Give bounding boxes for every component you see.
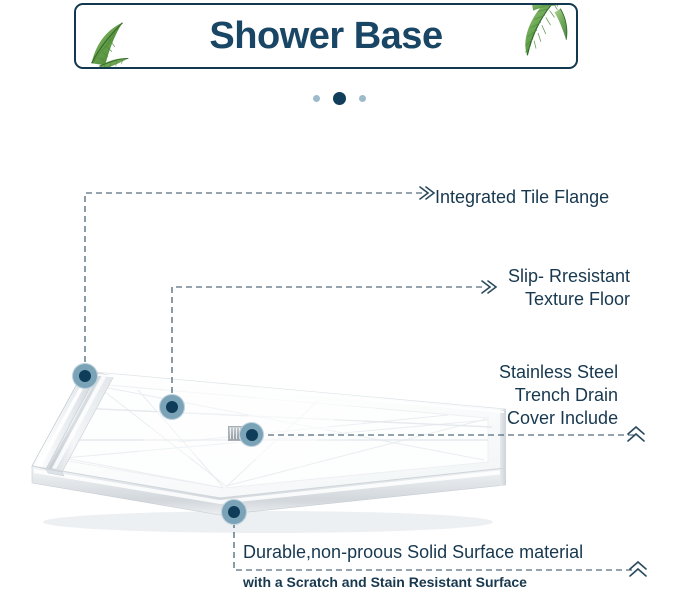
callout-marker-tile-flange[interactable] (72, 363, 98, 389)
callout-label-trench-drain-line-1: Stainless Steel (499, 361, 618, 384)
callout-label-trench-drain: Stainless Steel Trench Drain Cover Inclu… (499, 361, 618, 430)
chevron-arrow-4b (630, 569, 646, 576)
chevron-arrow-1b (426, 187, 434, 199)
callout-label-tile-flange: Integrated Tile Flange (435, 186, 609, 209)
callout-label-texture-floor: Slip- Rresistant Texture Floor (508, 265, 630, 311)
page-title: Shower Base (76, 17, 576, 55)
chevron-arrow-3a (628, 427, 644, 434)
carousel-dot-3[interactable] (359, 95, 366, 102)
product-infographic: Shower Base (0, 0, 679, 593)
callout-marker-texture-floor[interactable] (159, 394, 185, 420)
carousel-pagination[interactable] (0, 92, 679, 105)
title-banner: Shower Base (74, 3, 578, 69)
chevron-arrow-1a (420, 187, 428, 199)
carousel-dot-1[interactable] (313, 95, 320, 102)
chevron-arrow-2a (482, 281, 490, 293)
callout-label-texture-floor-line-2: Texture Floor (508, 288, 630, 311)
callout-label-trench-drain-line-3: Cover Include (499, 407, 618, 430)
callout-marker-solid-surface[interactable] (221, 499, 247, 525)
callout-label-solid-surface-line-1: Durable,non-proous Solid Surface materia… (243, 541, 583, 564)
chevron-arrow-4a (630, 562, 646, 569)
leader-line-1 (85, 193, 424, 372)
chevron-arrow-2b (488, 281, 496, 293)
callout-label-solid-surface: Durable,non-proous Solid Surface materia… (243, 541, 583, 564)
callout-label-trench-drain-line-2: Trench Drain (499, 384, 618, 407)
carousel-dot-2-active[interactable] (333, 92, 346, 105)
callout-marker-trench-drain[interactable] (239, 422, 264, 447)
callout-label-texture-floor-line-1: Slip- Rresistant (508, 265, 630, 288)
callout-label-tile-flange-line-1: Integrated Tile Flange (435, 186, 609, 209)
chevron-arrow-3b (628, 434, 644, 441)
callout-label-solid-surface-subline: with a Scratch and Stain Resistant Surfa… (243, 574, 527, 590)
